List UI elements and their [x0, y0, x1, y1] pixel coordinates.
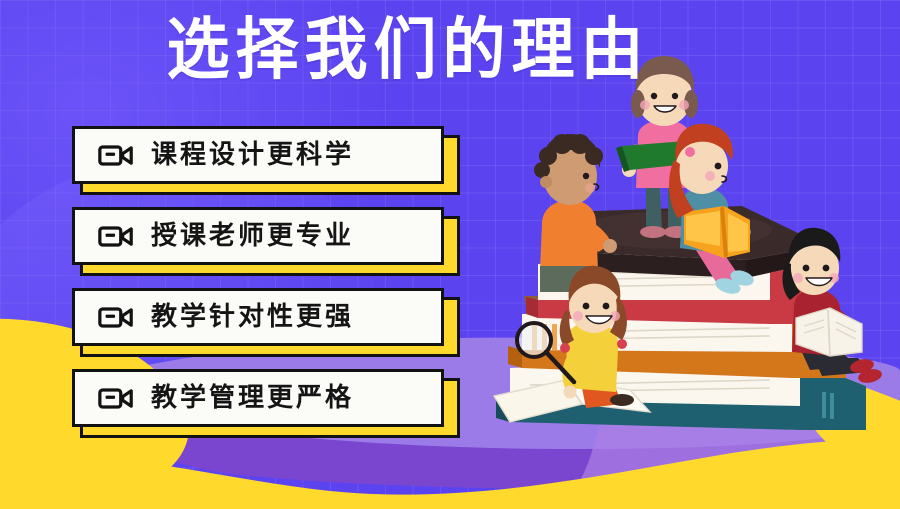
feature-box-1[interactable]: 课程设计更科学	[72, 126, 444, 184]
title-container: 选择我们的理由	[0, 16, 900, 84]
video-camera-icon	[97, 304, 135, 331]
feature-item-1[interactable]: 课程设计更科学	[72, 126, 462, 188]
video-camera-icon	[97, 142, 135, 169]
feature-label-3: 教学针对性更强	[151, 304, 354, 330]
feature-box-2[interactable]: 授课老师更专业	[72, 207, 444, 265]
page-title: 选择我们的理由	[167, 14, 650, 86]
feature-box-3[interactable]: 教学针对性更强	[72, 288, 444, 346]
feature-label-2: 授课老师更专业	[151, 223, 354, 249]
poster-canvas: 选择我们的理由 课程设计更科学 授课老师	[0, 0, 900, 509]
video-camera-icon	[97, 385, 135, 412]
feature-item-4[interactable]: 教学管理更严格	[72, 369, 462, 431]
feature-item-2[interactable]: 授课老师更专业	[72, 207, 462, 269]
illustration-children-books	[470, 100, 900, 480]
feature-label-4: 教学管理更严格	[151, 385, 354, 411]
feature-label-1: 课程设计更科学	[151, 142, 354, 168]
feature-box-4[interactable]: 教学管理更严格	[72, 369, 444, 427]
feature-list: 课程设计更科学 授课老师更专业 教学	[72, 126, 462, 450]
feature-item-3[interactable]: 教学针对性更强	[72, 288, 462, 350]
video-camera-icon	[97, 223, 135, 250]
